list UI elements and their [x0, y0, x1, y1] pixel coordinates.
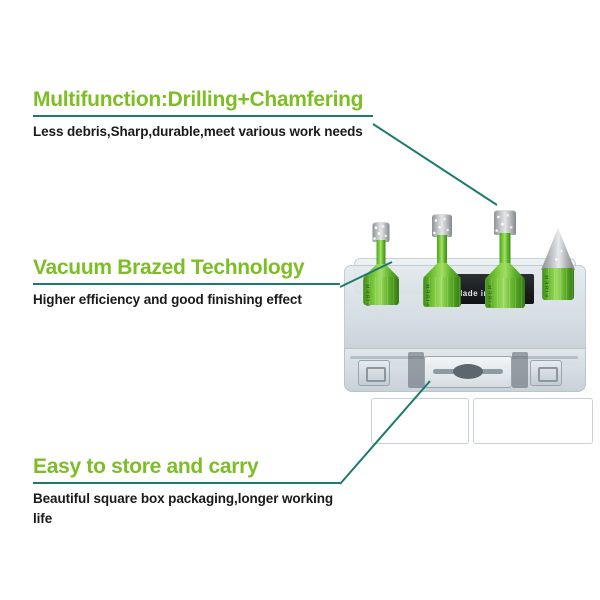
case-hinge-right [512, 352, 528, 388]
bit-hex-base: FIBER [542, 268, 574, 300]
feature-underline [33, 283, 340, 285]
diamond-crown-icon [373, 222, 390, 242]
case-latch-right[interactable] [530, 360, 562, 386]
bit-hex-base: FIBER [363, 277, 399, 305]
latch-grip-oval [453, 364, 483, 379]
case-compartment-divider [371, 398, 469, 444]
feature-underline [33, 482, 340, 484]
chamfer-cone-icon [541, 228, 575, 270]
case-latch-left[interactable] [358, 360, 390, 386]
feature-block-vacuum-brazed: Vacuum Brazed Technology Higher efficien… [33, 256, 363, 310]
feature-block-easy-store: Easy to store and carry Beautiful square… [33, 455, 353, 528]
diamond-crown-icon [494, 210, 516, 235]
infographic-stage: CHL Made in China FIBER FIBER [0, 0, 600, 600]
bit-base-text: FIBER [545, 274, 551, 297]
case-center-latch[interactable] [424, 356, 512, 388]
feature-headline: Vacuum Brazed Technology [33, 256, 363, 280]
bit-shoulder [423, 263, 461, 278]
case-hinge-left [408, 352, 424, 388]
feature-subtext: Beautiful square box packaging,longer wo… [33, 489, 353, 528]
product-photo: CHL Made in China FIBER FIBER [330, 170, 600, 405]
feature-underline [33, 115, 373, 117]
feature-headline: Easy to store and carry [33, 455, 353, 479]
bit-hex-base: FIBER [423, 277, 461, 307]
bit-shaft [377, 240, 386, 266]
bit-hex-base: FIBER [485, 278, 525, 308]
bit-base-text: FIBER [488, 284, 494, 307]
diamond-core-bit-1: FIBER [358, 222, 404, 300]
chamfer-cone-bit: FIBER [536, 228, 580, 306]
diamond-core-bit-3: FIBER [480, 210, 530, 302]
case-compartment-divider [473, 398, 593, 444]
bit-shaft [437, 235, 447, 265]
bit-base-text: FIBER [426, 283, 432, 306]
feature-headline: Multifunction:Drilling+Chamfering [33, 88, 373, 112]
bit-shoulder [485, 263, 525, 279]
bit-shaft [500, 233, 511, 265]
diamond-crown-icon [432, 214, 452, 237]
bit-shoulder [363, 264, 399, 278]
feature-subtext: Less debris,Sharp,durable,meet various w… [33, 122, 363, 142]
feature-subtext: Higher efficiency and good finishing eff… [33, 290, 363, 310]
feature-block-multifunction: Multifunction:Drilling+Chamfering Less d… [33, 88, 373, 142]
bit-base-text: FIBER [366, 283, 372, 306]
diamond-core-bit-2: FIBER [418, 214, 466, 302]
